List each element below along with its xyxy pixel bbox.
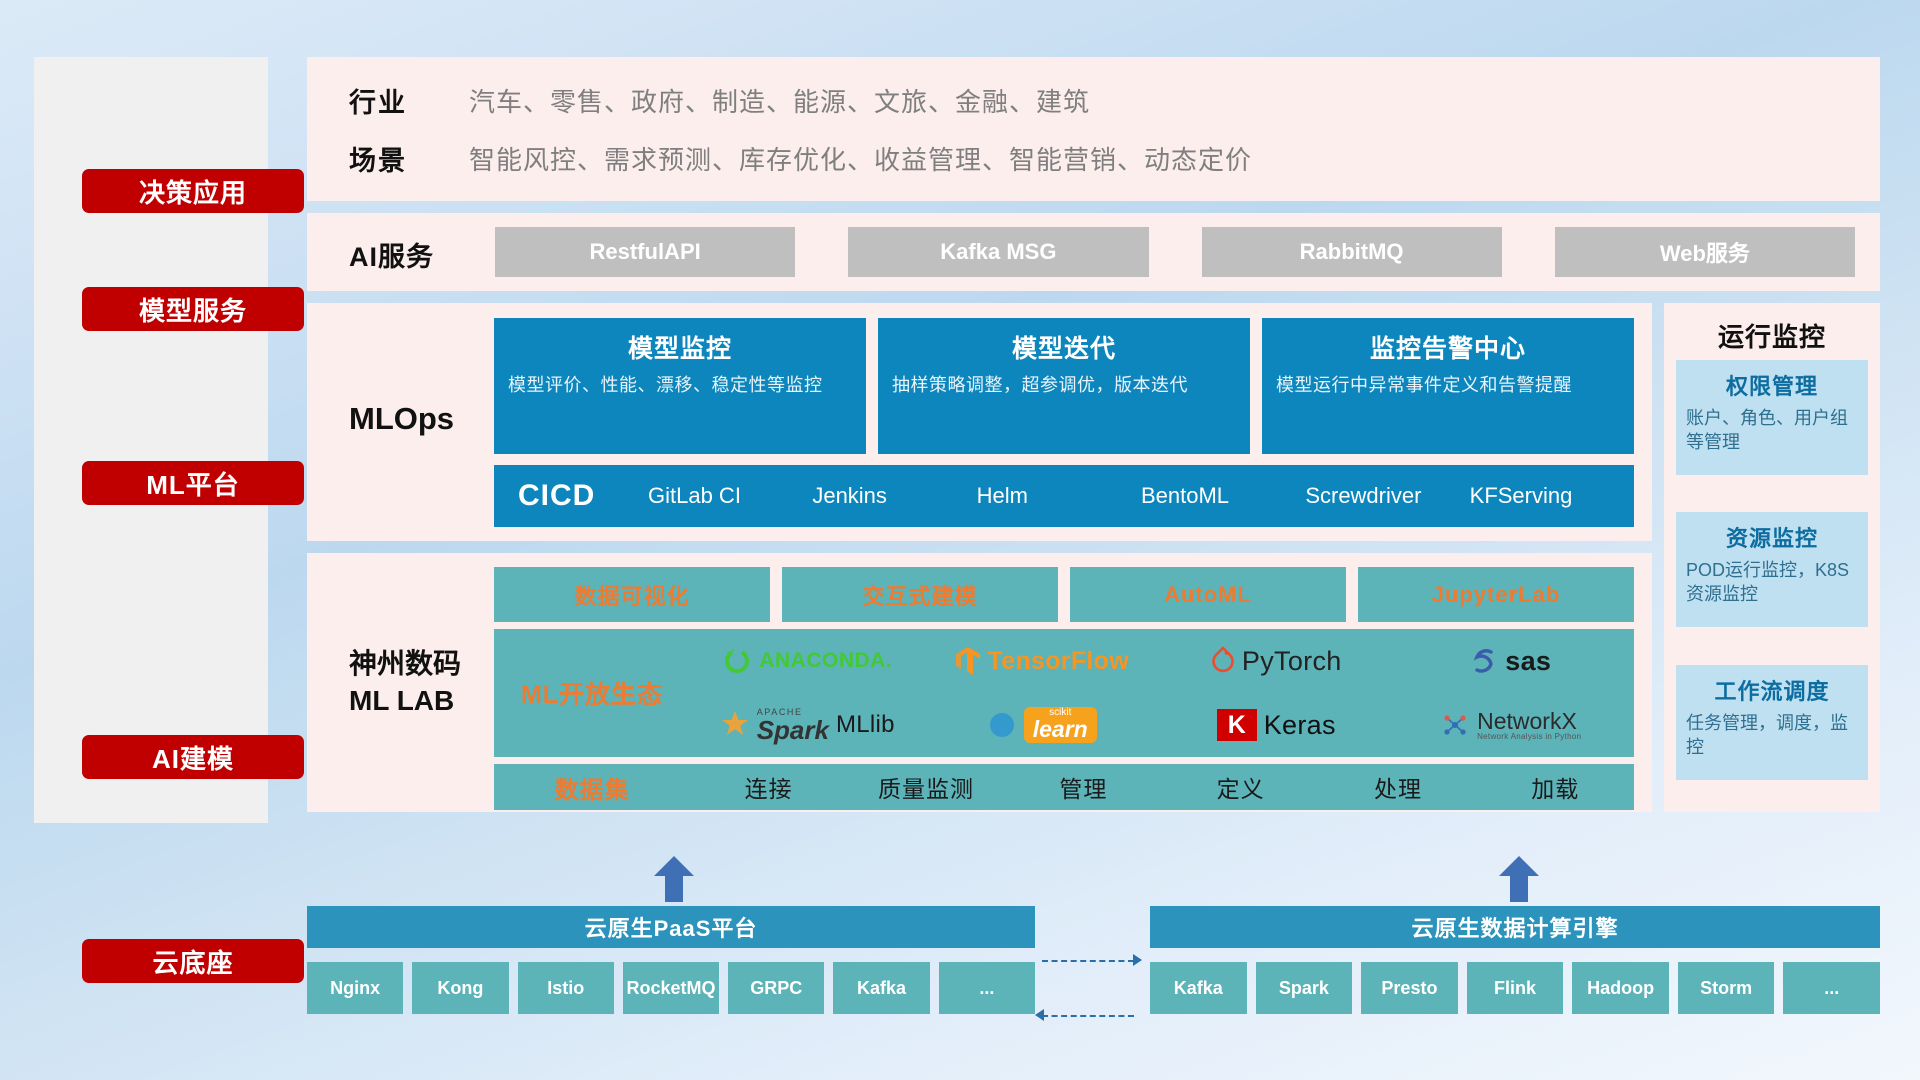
scikit-learn-logo: scikit learn [925,707,1160,743]
card-desc: 模型评价、性能、漂移、稳定性等监控 [508,373,852,397]
mlops-card-model-iteration[interactable]: 模型迭代 抽样策略调整，超参调优，版本迭代 [878,318,1250,454]
rail-badge-model-service[interactable]: 模型服务 [82,287,304,331]
sas-wordmark: sas [1505,646,1551,677]
paas-chip-list: Nginx Kong Istio RocketMQ GRPC Kafka ... [307,962,1035,1014]
mlops-card-model-monitoring[interactable]: 模型监控 模型评价、性能、漂移、稳定性等监控 [494,318,866,454]
monitor-card-resource-monitoring[interactable]: 资源监控 POD运行监控，K8S资源监控 [1676,512,1868,627]
cicd-item-screwdriver[interactable]: Screwdriver [1305,482,1469,510]
rail-badge-ml-platform[interactable]: ML平台 [82,461,304,505]
rail-badge-cloud-base[interactable]: 云底座 [82,939,304,983]
ml-lab-label-line1: 神州数码 [349,646,461,683]
networkx-wordmark: NetworkX [1477,709,1577,733]
cicd-item-bentoml[interactable]: BentoML [1141,482,1305,510]
dataset-item-quality-monitoring[interactable]: 质量监测 [847,770,1004,804]
mlops-label: MLOps [349,401,454,437]
cloud-native-compute-engine-bar[interactable]: 云原生数据计算引擎 [1150,906,1880,948]
card-desc: POD运行监控，K8S资源监控 [1686,558,1858,606]
scenario-value: 智能风控、需求预测、库存优化、收益管理、智能营销、动态定价 [469,140,1252,177]
engine-chip-flink[interactable]: Flink [1467,962,1564,1014]
cicd-item-kfserving[interactable]: KFServing [1470,482,1634,510]
ml-open-ecosystem-panel: ML开放生态 ANACONDA. [494,629,1634,757]
networkx-logo: NetworkX Network Analysis in Python [1394,709,1629,742]
lab-tool-automl[interactable]: AutoML [1070,567,1346,622]
paas-chip-more[interactable]: ... [939,962,1035,1014]
ai-service-label: AI服务 [349,235,434,274]
spark-star-icon [720,709,750,741]
service-chip-kafka-msg[interactable]: Kafka MSG [848,227,1148,277]
up-arrow-right-icon [1497,856,1541,902]
ai-service-chip-list: RestfulAPI Kafka MSG RabbitMQ Web服务 [495,227,1855,277]
dataset-item-loading[interactable]: 加载 [1477,770,1634,804]
paas-chip-kafka[interactable]: Kafka [833,962,929,1014]
tensorflow-logo: TensorFlow [925,646,1160,676]
dataset-item-processing[interactable]: 处理 [1319,770,1476,804]
industry-row: 行业 汽车、零售、政府、制造、能源、文旅、金融、建筑 [349,81,1090,120]
dataset-row: 数据集 连接 质量监测 管理 定义 处理 加载 [494,764,1634,810]
lab-tool-interactive-modeling[interactable]: 交互式建模 [782,567,1058,622]
cloud-base-band: 云原生PaaS平台 云原生数据计算引擎 Nginx Kong Istio Roc… [307,870,1880,1030]
paas-chip-kong[interactable]: Kong [412,962,508,1014]
sas-swirl-icon [1470,646,1498,676]
engine-chip-spark[interactable]: Spark [1256,962,1353,1014]
scikit-blue-dot-icon [987,710,1017,740]
connector-dashed-top [1042,960,1134,962]
architecture-diagram: 决策应用 模型服务 ML平台 AI建模 云底座 行业 汽车、零售、政府、制造、能… [0,0,1920,1080]
ml-lab-band: 神州数码 ML LAB 数据可视化 交互式建模 AutoML JupyterLa… [307,553,1652,812]
pytorch-wordmark: PyTorch [1242,646,1342,677]
industry-value: 汽车、零售、政府、制造、能源、文旅、金融、建筑 [469,82,1090,119]
card-title: 工作流调度 [1686,674,1858,706]
monitor-card-permission-management[interactable]: 权限管理 账户、角色、用户组等管理 [1676,360,1868,475]
mllib-wordmark: MLlib [836,711,895,739]
card-title: 监控告警中心 [1276,329,1620,365]
ml-lab-label: 神州数码 ML LAB [349,646,461,720]
connector-arrow-right-icon [1133,954,1142,966]
compute-engine-chip-list: Kafka Spark Presto Flink Hadoop Storm ..… [1150,962,1880,1014]
card-desc: 抽样策略调整，超参调优，版本迭代 [892,373,1236,397]
networkx-graph-icon [1440,710,1470,740]
cicd-item-jenkins[interactable]: Jenkins [812,482,976,510]
service-chip-restfulapi[interactable]: RestfulAPI [495,227,795,277]
card-desc: 账户、角色、用户组等管理 [1686,406,1858,454]
scenario-label: 场景 [349,139,469,178]
pytorch-flame-icon [1211,646,1235,676]
networkx-wordmark-block: NetworkX Network Analysis in Python [1477,709,1581,742]
card-title: 模型监控 [508,329,852,365]
rail-badge-decision-app[interactable]: 决策应用 [82,169,304,213]
cicd-item-helm[interactable]: Helm [977,482,1141,510]
spark-wordmark-block: APACHE Spark [757,708,829,743]
service-chip-web-service[interactable]: Web服务 [1555,227,1855,277]
spark-wordmark: Spark [757,717,829,743]
dataset-item-management[interactable]: 管理 [1005,770,1162,804]
paas-chip-grpc[interactable]: GRPC [728,962,824,1014]
connector-dashed-bottom [1042,1015,1134,1017]
anaconda-logo: ANACONDA. [690,646,925,676]
paas-chip-nginx[interactable]: Nginx [307,962,403,1014]
ml-lab-tool-list: 数据可视化 交互式建模 AutoML JupyterLab [494,567,1634,622]
card-desc: 模型运行中异常事件定义和告警提醒 [1276,373,1620,397]
card-title: 权限管理 [1686,369,1858,401]
mlops-band: MLOps 模型监控 模型评价、性能、漂移、稳定性等监控 模型迭代 抽样策略调整… [307,303,1652,541]
keras-logo: K Keras [1159,709,1394,742]
service-chip-rabbitmq[interactable]: RabbitMQ [1202,227,1502,277]
scikit-learn-badge: scikit learn [1024,707,1097,743]
ai-service-band: AI服务 RestfulAPI Kafka MSG RabbitMQ Web服务 [307,213,1880,291]
runtime-monitoring-band: 运行监控 权限管理 账户、角色、用户组等管理 资源监控 POD运行监控，K8S资… [1664,303,1880,812]
paas-chip-rocketmq[interactable]: RocketMQ [623,962,719,1014]
cicd-item-gitlab-ci[interactable]: GitLab CI [648,482,812,510]
engine-chip-storm[interactable]: Storm [1678,962,1775,1014]
paas-chip-istio[interactable]: Istio [518,962,614,1014]
scenario-row: 场景 智能风控、需求预测、库存优化、收益管理、智能营销、动态定价 [349,139,1252,178]
tensorflow-wordmark: TensorFlow [988,647,1129,676]
learn-text: learn [1033,718,1088,741]
keras-mark-icon: K [1217,709,1257,742]
decision-application-band: 行业 汽车、零售、政府、制造、能源、文旅、金融、建筑 场景 智能风控、需求预测、… [307,57,1880,201]
dataset-label: 数据集 [494,770,690,805]
cicd-item-list: GitLab CI Jenkins Helm BentoML Screwdriv… [648,482,1634,510]
ml-open-ecosystem-label: ML开放生态 [494,675,690,711]
layer-rail: 决策应用 模型服务 ML平台 AI建模 [34,57,268,823]
keras-wordmark: Keras [1264,710,1336,741]
dataset-item-definition[interactable]: 定义 [1162,770,1319,804]
lab-tool-jupyterlab[interactable]: JupyterLab [1358,567,1634,622]
anaconda-ring-icon [722,646,752,676]
engine-chip-more[interactable]: ... [1783,962,1880,1014]
rail-badge-ai-modeling[interactable]: AI建模 [82,735,304,779]
card-title: 模型迭代 [892,329,1236,365]
ml-lab-label-line2: ML LAB [349,683,461,720]
pytorch-logo: PyTorch [1159,646,1394,677]
engine-chip-presto[interactable]: Presto [1361,962,1458,1014]
monitor-card-workflow-scheduling[interactable]: 工作流调度 任务管理，调度，监控 [1676,665,1868,780]
mlops-card-list: 模型监控 模型评价、性能、漂移、稳定性等监控 模型迭代 抽样策略调整，超参调优，… [494,318,1634,454]
cloud-native-paas-bar[interactable]: 云原生PaaS平台 [307,906,1035,948]
networkx-tagline: Network Analysis in Python [1477,733,1581,741]
mlops-card-alert-center[interactable]: 监控告警中心 模型运行中异常事件定义和告警提醒 [1262,318,1634,454]
spark-mllib-logo: APACHE Spark MLlib [690,708,925,743]
cicd-bar: CICD GitLab CI Jenkins Helm BentoML Scre… [494,465,1634,527]
up-arrow-left-icon [652,856,696,902]
ecosystem-logo-grid: ANACONDA. TensorFlow PyTorch [690,629,1634,757]
engine-chip-hadoop[interactable]: Hadoop [1572,962,1669,1014]
tensorflow-mark-icon [955,646,981,676]
card-title: 资源监控 [1686,521,1858,553]
sas-logo: sas [1394,646,1629,677]
dataset-item-connect[interactable]: 连接 [690,770,847,804]
lab-tool-data-visualization[interactable]: 数据可视化 [494,567,770,622]
cicd-title: CICD [518,479,648,513]
anaconda-wordmark: ANACONDA. [759,649,892,673]
industry-label: 行业 [349,81,469,120]
connector-arrow-left-icon [1035,1009,1044,1021]
card-desc: 任务管理，调度，监控 [1686,711,1858,759]
engine-chip-kafka[interactable]: Kafka [1150,962,1247,1014]
runtime-monitoring-title: 运行监控 [1664,317,1880,354]
